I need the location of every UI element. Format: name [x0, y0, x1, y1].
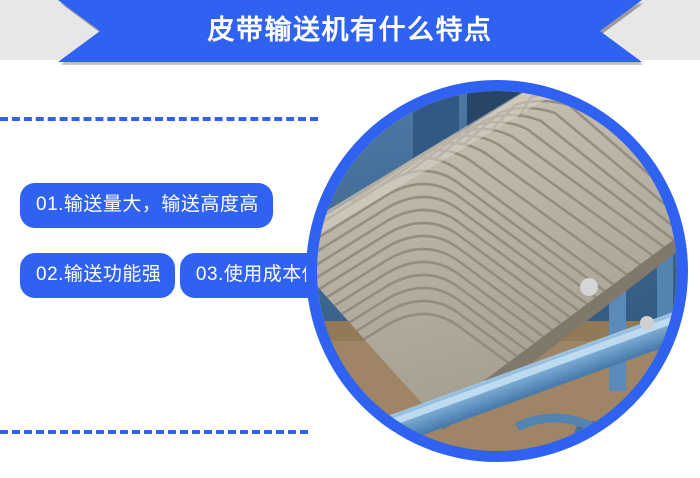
feature-item-02[interactable]: 02.输送功能强 [20, 253, 175, 298]
feature-item-01[interactable]: 01.输送量大，输送高度高 [20, 183, 273, 228]
dashed-divider-top [0, 117, 318, 121]
promo-graphic: 皮带输送机有什么特点 01.输送量大，输送高度高 02.输送功能强 03.使用成… [0, 0, 700, 478]
belt-conveyor-illustration [317, 91, 677, 451]
header-ribbon: 皮带输送机有什么特点 [58, 0, 642, 62]
feature-item-label: 03.使用成本低 [196, 265, 321, 286]
product-photo [317, 91, 677, 451]
feature-list: 01.输送量大，输送高度高 02.输送功能强 03.使用成本低 [20, 183, 340, 323]
product-photo-ring [306, 80, 688, 462]
page-title: 皮带输送机有什么特点 [208, 17, 493, 46]
dashed-divider-bottom [0, 430, 308, 434]
feature-item-label: 01.输送量大，输送高度高 [36, 195, 259, 216]
feature-item-label: 02.输送功能强 [36, 265, 161, 286]
